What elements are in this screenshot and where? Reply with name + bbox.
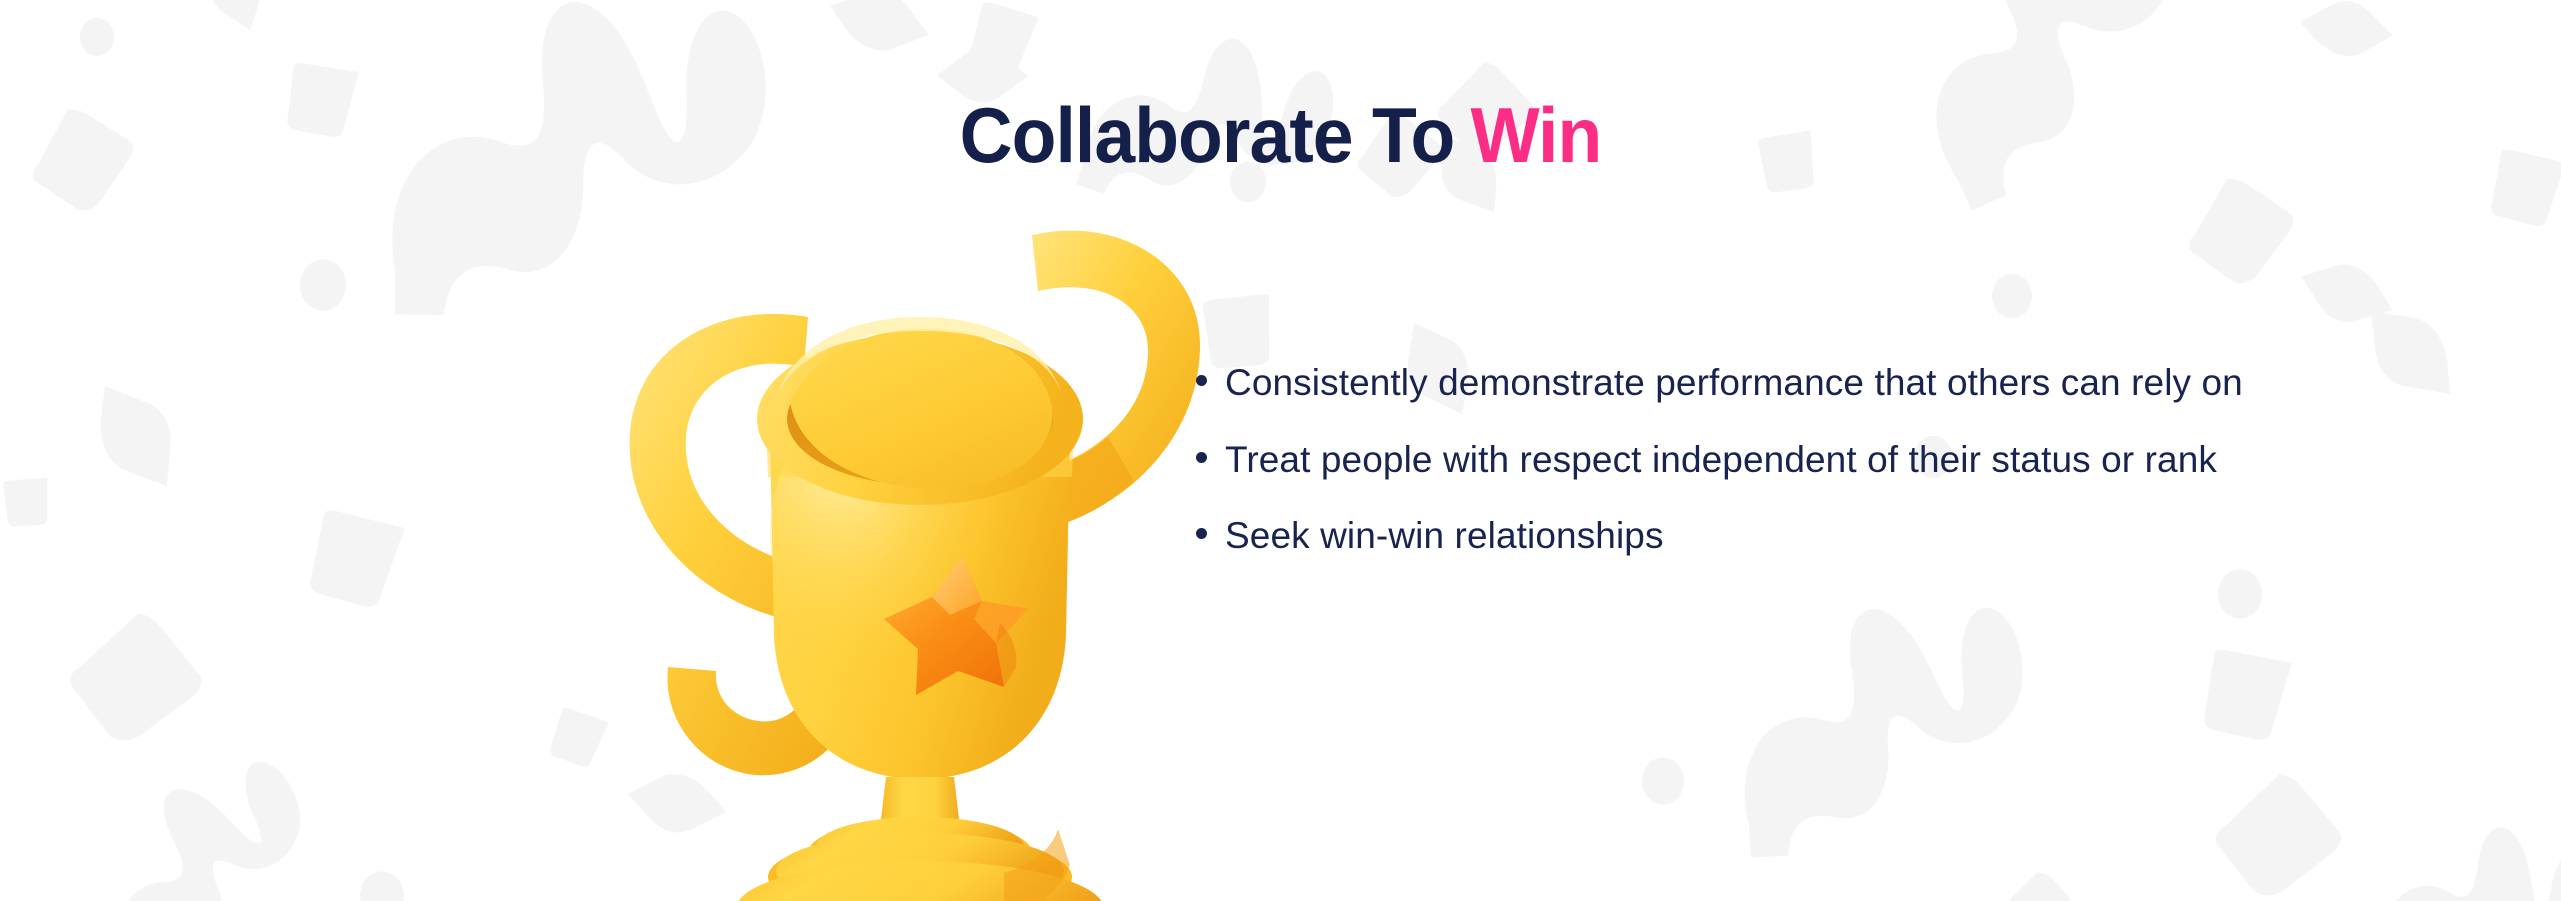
confetti-circle-icon [360, 871, 404, 901]
confetti-circle-icon [2218, 569, 2262, 618]
confetti-squiggle-icon [2367, 794, 2561, 901]
confetti-circle-icon [80, 18, 114, 56]
confetti-circle-icon [1642, 757, 1684, 804]
confetti-squiggle-icon [87, 755, 335, 901]
confetti-leaf-icon [2300, 0, 2393, 74]
confetti-circle-icon [1992, 274, 2032, 319]
list-item-label: Consistently demonstrate performance tha… [1225, 358, 2243, 409]
confetti-leaf-icon [2363, 311, 2458, 394]
confetti-squiggle-icon [1740, 592, 2027, 876]
confetti-leaf-icon [830, 0, 929, 67]
page-title-accent: Win [1470, 91, 1601, 179]
confetti-square-icon [2, 475, 53, 529]
list-item-label: Seek win-win relationships [1225, 511, 1664, 562]
confetti-square-icon [968, 1, 1039, 75]
list-item: Treat people with respect independent of… [1196, 435, 2346, 486]
bullet-point-icon [1196, 528, 1207, 539]
confetti-diamond-icon [2179, 169, 2302, 291]
confetti-diamond-icon [64, 606, 209, 749]
hero-banner: Collaborate ToWin [0, 0, 2561, 901]
confetti-circle-icon [300, 259, 346, 311]
trophy-illustration [600, 205, 1240, 901]
bullet-point-icon [1196, 452, 1207, 463]
confetti-leaf-icon [82, 386, 191, 486]
confetti-leaf-icon [2301, 251, 2392, 335]
trophy-icon [600, 205, 1240, 901]
confetti-square-icon [2202, 649, 2292, 743]
confetti-square-icon [307, 509, 405, 611]
list-item-label: Treat people with respect independent of… [1225, 435, 2217, 486]
bullet-point-icon [1196, 375, 1207, 386]
confetti-leaf-icon [194, 0, 278, 30]
page-title: Collaborate ToWin [77, 96, 2484, 174]
confetti-square-icon [2489, 149, 2561, 229]
list-item: Consistently demonstrate performance tha… [1196, 358, 2346, 409]
confetti-diamond-icon [1982, 868, 2093, 901]
values-list: Consistently demonstrate performance tha… [1196, 358, 2346, 562]
confetti-diamond-icon [2210, 768, 2347, 901]
page-title-main: Collaborate To [960, 91, 1455, 179]
list-item: Seek win-win relationships [1196, 511, 2346, 562]
